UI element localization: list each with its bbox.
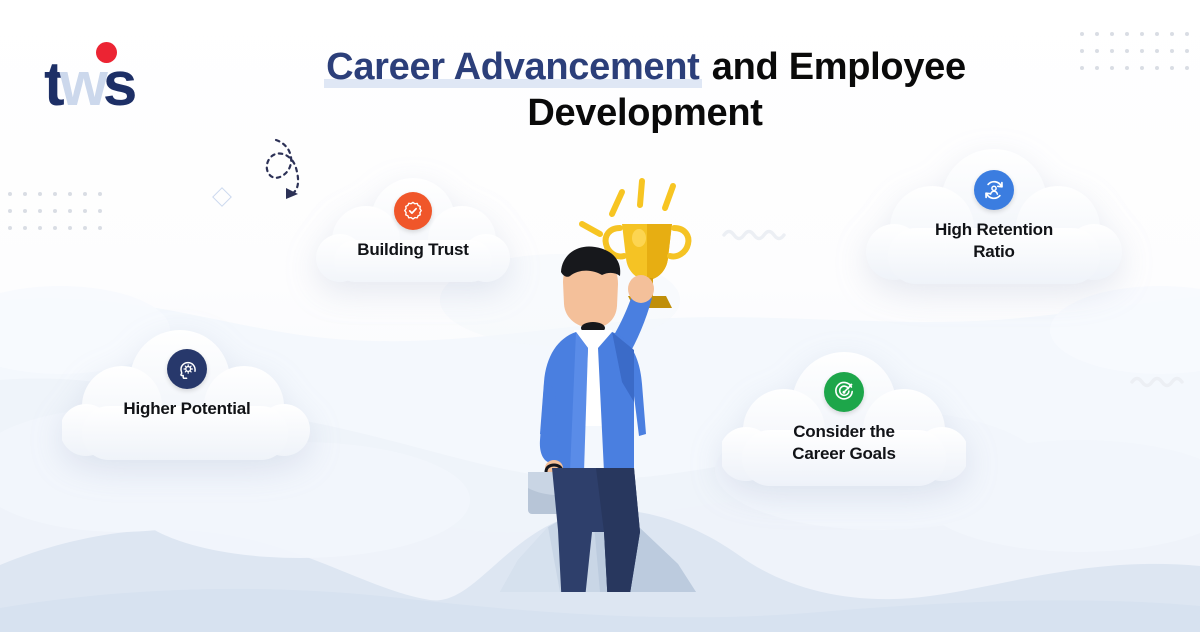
cloud-content: Higher Potential bbox=[62, 349, 312, 420]
logo-letter-t: t bbox=[44, 50, 60, 119]
cloud-card-consider-career-goals[interactable]: Consider the Career Goals bbox=[722, 352, 966, 496]
head-with-gear-icon bbox=[167, 349, 207, 389]
target-dart-icon bbox=[824, 372, 864, 412]
logo-letter-s: s bbox=[103, 50, 132, 119]
cloud-label: Building Trust bbox=[357, 239, 468, 261]
logo-wordmark: tws bbox=[44, 54, 132, 116]
cloud-card-high-retention-ratio[interactable]: High Retention Ratio bbox=[866, 148, 1122, 294]
page-title: Career Advancement and Employee Developm… bbox=[250, 44, 1040, 137]
dashed-curved-arrow-icon bbox=[248, 132, 320, 208]
cloud-content: High Retention Ratio bbox=[866, 170, 1122, 263]
cloud-label: Higher Potential bbox=[123, 398, 250, 420]
cloud-card-higher-potential[interactable]: Higher Potential bbox=[62, 330, 312, 470]
verified-check-badge-icon bbox=[394, 192, 432, 230]
cloud-label: High Retention Ratio bbox=[935, 219, 1053, 263]
wave-line-decor-right bbox=[1130, 372, 1192, 390]
infographic-canvas: tws Career Advancement and Employee Deve… bbox=[0, 0, 1200, 632]
dot-grid-top-right bbox=[1080, 32, 1200, 83]
logo-letter-w: w bbox=[60, 50, 103, 119]
dot-grid-left bbox=[8, 192, 113, 243]
diamond-outline-decor bbox=[212, 187, 232, 207]
cloud-label: Consider the Career Goals bbox=[792, 421, 895, 465]
cloud-content: Building Trust bbox=[314, 192, 512, 261]
page-title-accent: Career Advancement bbox=[324, 46, 701, 88]
cloud-card-building-trust[interactable]: Building Trust bbox=[314, 178, 512, 290]
wave-line-decor-center bbox=[722, 225, 802, 243]
right-hand bbox=[628, 275, 654, 303]
brand-logo[interactable]: tws bbox=[44, 42, 184, 124]
head bbox=[561, 246, 620, 334]
cloud-content: Consider the Career Goals bbox=[722, 372, 966, 465]
employee-retention-cycle-icon bbox=[974, 170, 1014, 210]
businessman-with-trophy-illustration bbox=[500, 172, 710, 592]
